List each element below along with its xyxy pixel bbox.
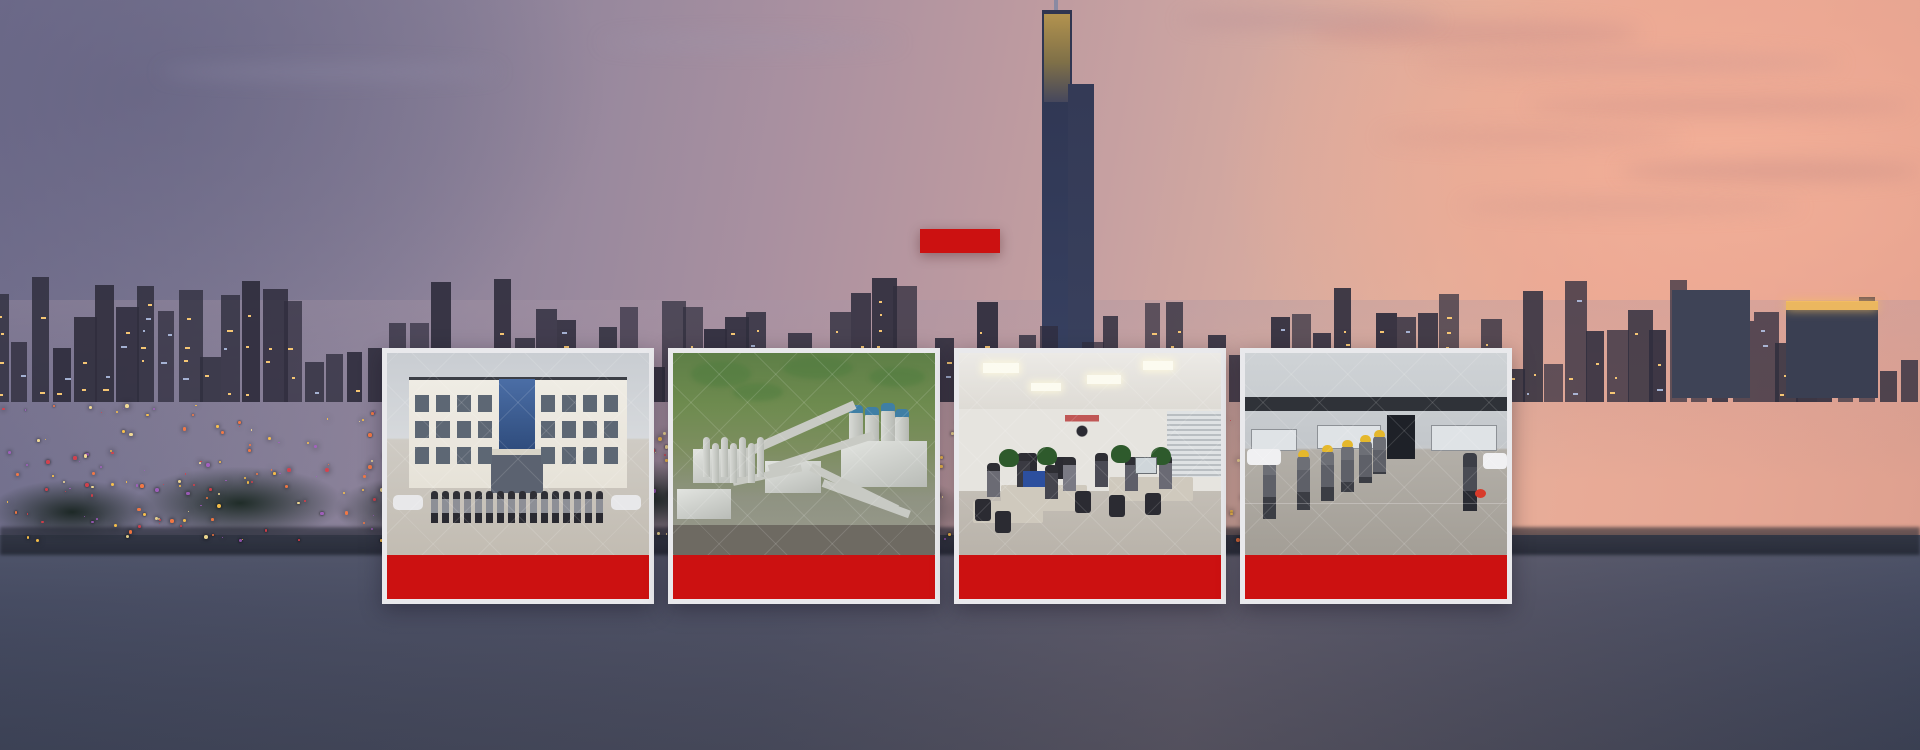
- feature-card-4[interactable]: [1240, 348, 1512, 604]
- feature-card-row: [382, 348, 1546, 604]
- card-caption-2: [673, 555, 935, 599]
- card-caption-1: [387, 555, 649, 599]
- feature-card-1[interactable]: [382, 348, 654, 604]
- workers-training-photo[interactable]: [1245, 353, 1507, 555]
- hero-banner: [0, 0, 1920, 750]
- feature-card-2[interactable]: [668, 348, 940, 604]
- office-interior-photo[interactable]: [959, 353, 1221, 555]
- subtitle-container: [0, 229, 1920, 258]
- factory-aerial-photo[interactable]: [673, 353, 935, 555]
- company-building-photo[interactable]: [387, 353, 649, 555]
- card-caption-3: [959, 555, 1221, 599]
- feature-card-3[interactable]: [954, 348, 1226, 604]
- card-caption-4: [1245, 555, 1507, 599]
- subtitle-ribbon: [920, 229, 1000, 253]
